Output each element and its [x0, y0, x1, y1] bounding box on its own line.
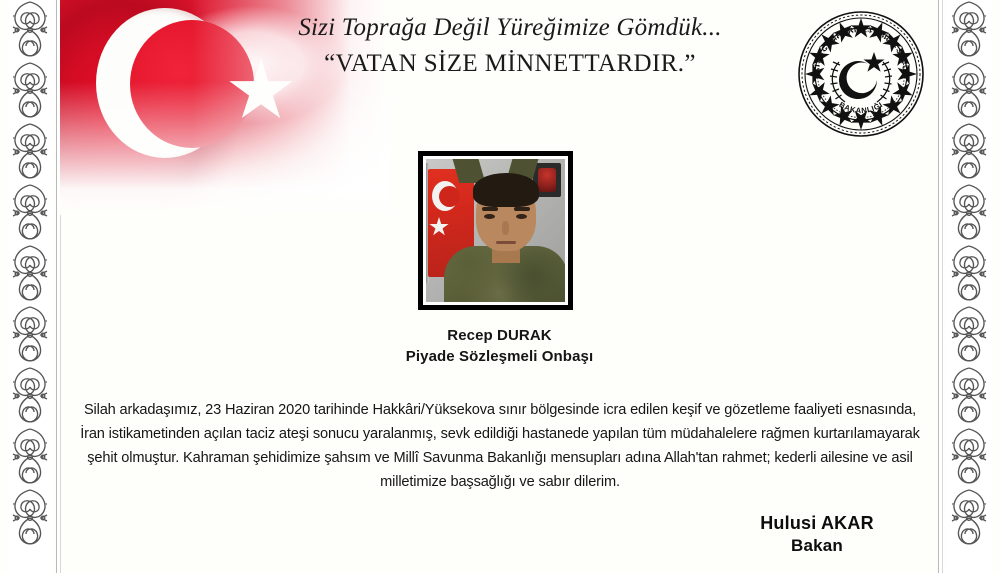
ornamental-border-left: [7, 0, 53, 573]
soldier-brow-left: [482, 207, 498, 211]
memorial-heading: Sizi Toprağa Değil Yüreğimize Gömdük... …: [230, 14, 790, 78]
memorial-card: Sizi Toprağa Değil Yüreğimize Gömdük... …: [0, 0, 999, 573]
inner-rule-right: [938, 0, 943, 573]
portrait-photo: [426, 159, 565, 302]
portrait-mat: [423, 156, 568, 305]
flag-crescent: [96, 8, 234, 158]
heading-line-2: “VATAN SİZE MİNNETTARDIR.”: [230, 50, 790, 78]
fallen-soldier-portrait: [418, 151, 573, 310]
inner-rule-left: [56, 0, 61, 573]
fallen-rank: Piyade Sözleşmeli Onbaşı: [0, 348, 999, 365]
signature-block: Hulusi AKAR Bakan: [707, 513, 927, 556]
memorial-statement: Silah arkadaşımız, 23 Haziran 2020 tarih…: [72, 398, 928, 494]
statement-text: Silah arkadaşımız, 23 Haziran 2020 tarih…: [72, 398, 928, 494]
soldier-eye-right: [516, 214, 527, 219]
signatory-name: Hulusi AKAR: [707, 513, 927, 534]
soldier-eye-left: [484, 214, 495, 219]
heading-line-1: Sizi Toprağa Değil Yüreğimize Gömdük...: [230, 14, 790, 42]
soldier-brow-right: [514, 207, 530, 211]
soldier-mouth: [496, 241, 516, 244]
soldier-hair: [473, 173, 539, 207]
ministry-seal-icon: TÜRKİYE CUMHURİYETİ MİLLİ SAVUNMA BAKANL…: [795, 8, 927, 140]
soldier-nose: [502, 221, 509, 235]
ornamental-border-right: [946, 0, 992, 573]
signatory-title: Bakan: [707, 536, 927, 556]
fallen-name: Recep DURAK: [0, 327, 999, 344]
